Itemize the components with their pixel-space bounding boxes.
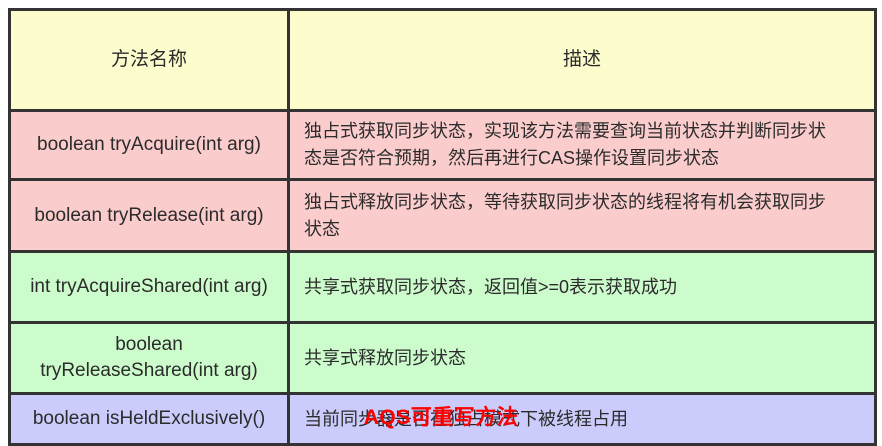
method-name: boolean tryReleaseShared(int arg) (11, 326, 287, 390)
header-label-method: 方法名称 (11, 41, 287, 79)
method-name-line: boolean (21, 332, 277, 358)
description-line: 独占式释放同步状态，等待获取同步状态的线程将有机会获取同步 (304, 189, 864, 216)
method-name-line: boolean tryRelease(int arg) (21, 203, 277, 229)
description-line: 状态 (304, 216, 864, 243)
table-header-row: 方法名称 描述 (10, 10, 876, 111)
page-root: 方法名称 描述 boolean tryAcquire(int arg) (0, 0, 882, 444)
description-line: 共享式释放同步状态 (304, 345, 864, 372)
method-name: boolean tryRelease(int arg) (11, 197, 287, 235)
aqs-overridable-methods-table-wrapper: 方法名称 描述 boolean tryAcquire(int arg) (8, 8, 874, 446)
description-text: 共享式释放同步状态 (290, 339, 874, 378)
description-text: 共享式获取同步状态，返回值>=0表示获取成功 (290, 268, 874, 307)
description-cell: 独占式释放同步状态，等待获取同步状态的线程将有机会获取同步 状态 (289, 180, 876, 252)
method-name: boolean tryAcquire(int arg) (11, 126, 287, 164)
description-text: 独占式释放同步状态，等待获取同步状态的线程将有机会获取同步 状态 (290, 183, 874, 249)
description-text: 独占式获取同步状态，实现该方法需要查询当前状态并判断同步状 态是否符合预期，然后… (290, 112, 874, 178)
description-cell: 共享式获取同步状态，返回值>=0表示获取成功 (289, 252, 876, 323)
table-row: boolean tryAcquire(int arg) 独占式获取同步状态，实现… (10, 111, 876, 180)
description-line: 独占式获取同步状态，实现该方法需要查询当前状态并判断同步状 (304, 118, 864, 145)
aqs-overridable-methods-table: 方法名称 描述 boolean tryAcquire(int arg) (8, 8, 877, 446)
header-cell-description: 描述 (289, 10, 876, 111)
method-cell: int tryAcquireShared(int arg) (10, 252, 289, 323)
table-row: boolean tryRelease(int arg) 独占式释放同步状态，等待… (10, 180, 876, 252)
table-row: int tryAcquireShared(int arg) 共享式获取同步状态，… (10, 252, 876, 323)
method-cell: boolean tryAcquire(int arg) (10, 111, 289, 180)
method-cell: boolean tryReleaseShared(int arg) (10, 323, 289, 394)
table-row: boolean tryReleaseShared(int arg) 共享式释放同… (10, 323, 876, 394)
header-label-description: 描述 (290, 41, 874, 79)
description-line: 态是否符合预期，然后再进行CAS操作设置同步状态 (304, 145, 864, 172)
method-name-line: int tryAcquireShared(int arg) (21, 274, 277, 300)
method-name-line: tryReleaseShared(int arg) (21, 358, 277, 384)
description-line: 共享式获取同步状态，返回值>=0表示获取成功 (304, 274, 864, 301)
method-name-line: boolean tryAcquire(int arg) (21, 132, 277, 158)
method-name: int tryAcquireShared(int arg) (11, 268, 287, 306)
table-caption: AQS可重写方法 (0, 404, 882, 432)
header-cell-method: 方法名称 (10, 10, 289, 111)
description-cell: 共享式释放同步状态 (289, 323, 876, 394)
description-cell: 独占式获取同步状态，实现该方法需要查询当前状态并判断同步状 态是否符合预期，然后… (289, 111, 876, 180)
method-cell: boolean tryRelease(int arg) (10, 180, 289, 252)
